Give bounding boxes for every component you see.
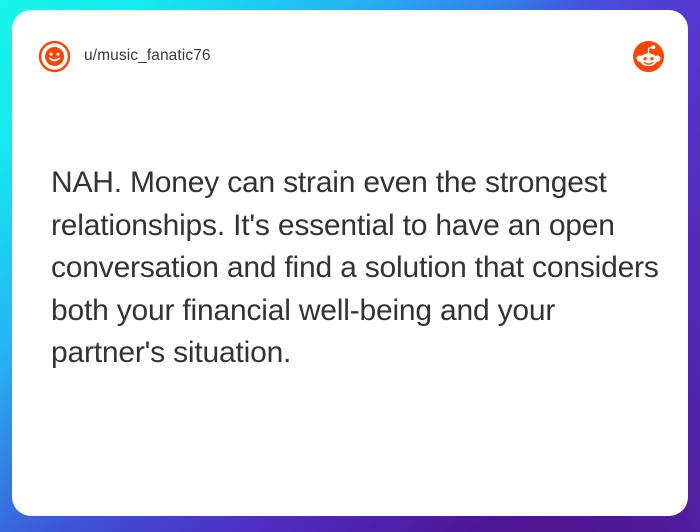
card-header: u/music_fanatic76	[12, 10, 688, 102]
smiley-face-icon	[38, 40, 71, 73]
post-body-text: NAH. Money can strain even the strongest…	[51, 162, 663, 375]
post-card: u/music_fanatic76	[12, 10, 688, 516]
post-body: NAH. Money can strain even the strongest…	[51, 162, 663, 375]
username-label: u/music_fanatic76	[84, 47, 211, 65]
reddit-alien-icon[interactable]	[633, 41, 664, 72]
gradient-backdrop: u/music_fanatic76	[0, 0, 700, 532]
